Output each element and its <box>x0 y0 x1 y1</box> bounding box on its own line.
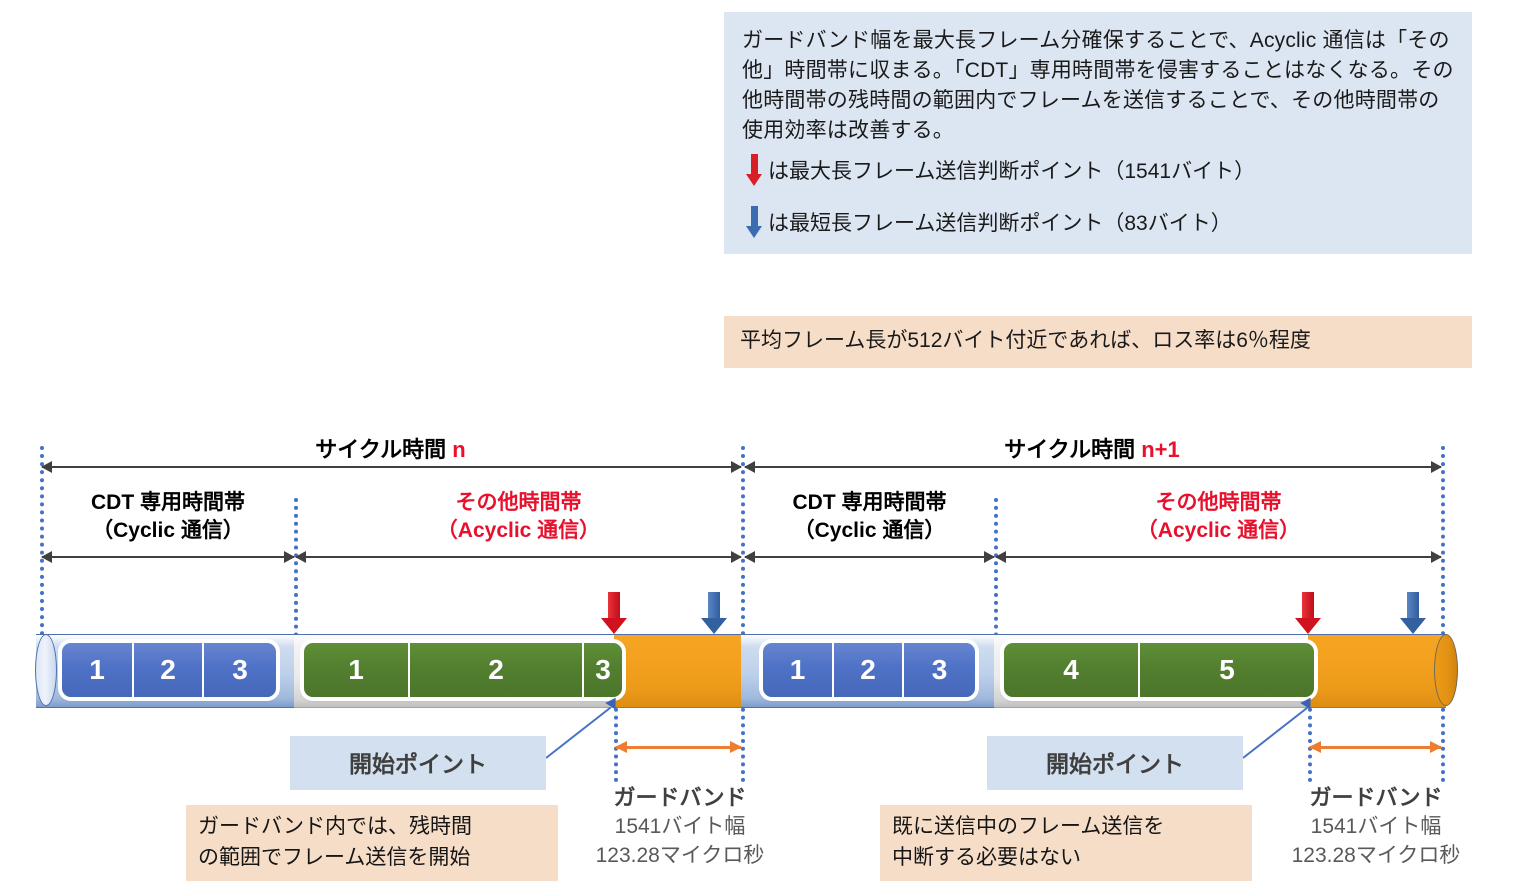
down-arrow-blue-icon <box>742 204 766 244</box>
cycle-title-n1: サイクル時間 n+1 <box>743 432 1441 464</box>
down-arrow-red-icon <box>742 152 766 192</box>
cycle-title-n: サイクル時間 n <box>40 432 741 464</box>
info-box-guardband: ガードバンド幅を最大長フレーム分確保することで、Acyclic 通信は「その他」… <box>724 12 1472 254</box>
pipe-right-cap <box>1434 634 1458 706</box>
band-label-other-n1: その他時間帯 （Acyclic 通信） <box>996 489 1441 545</box>
pipe-left-cap <box>35 634 57 706</box>
frame-block: 3 <box>584 643 622 697</box>
band-label-other-n1-line1: その他時間帯 <box>996 489 1441 517</box>
legend-row-min-frame: は最短長フレーム送信判断ポイント（83バイト） <box>742 204 1454 244</box>
measure-other-n1 <box>996 556 1441 558</box>
frame-block: 3 <box>904 643 975 697</box>
cycle-title-n1-accent: n+1 <box>1141 437 1180 462</box>
band-label-cdt-n-line1: CDT 専用時間帯 <box>42 489 294 517</box>
band-label-other-n-line1: その他時間帯 <box>296 489 741 517</box>
guardband-line2-left: 123.28マイクロ秒 <box>560 841 800 870</box>
measure-cycle-n1 <box>745 466 1441 468</box>
measure-cdt-n <box>42 556 294 558</box>
band-label-cdt-n1: CDT 専用時間帯 （Cyclic 通信） <box>745 489 994 545</box>
pipe-segment-guard-n <box>614 634 741 708</box>
frame-block: 1 <box>304 643 410 697</box>
leader-line-start-point-right <box>1242 707 1308 759</box>
measure-other-n <box>296 556 741 558</box>
legend-label-min-frame: は最短長フレーム送信判断ポイント（83バイト） <box>768 210 1232 238</box>
callout-note-left-line1: ガードバンド内では、残時間 <box>198 811 546 842</box>
band-label-cdt-n-line2: （Cyclic 通信） <box>42 517 294 545</box>
guardband-caption-right: ガードバンド 1541バイト幅 123.28マイクロ秒 <box>1256 784 1496 870</box>
callout-note-left-line2: の範囲でフレーム送信を開始 <box>198 842 546 873</box>
band-label-cdt-n: CDT 専用時間帯 （Cyclic 通信） <box>42 489 294 545</box>
pipe-segment-guard-n1 <box>1308 634 1446 708</box>
frame-group-acyclic-n1: 4 5 <box>1004 643 1314 697</box>
callout-start-point-left: 開始ポイント <box>290 736 546 790</box>
frame-block: 2 <box>834 643 904 697</box>
callout-start-point-right: 開始ポイント <box>987 736 1243 790</box>
cycle-title-n1-base: サイクル時間 <box>1004 437 1141 462</box>
band-label-other-n1-line2: （Acyclic 通信） <box>996 517 1441 545</box>
guardband-title-right: ガードバンド <box>1256 784 1496 812</box>
callout-note-right: 既に送信中のフレーム送信を 中断する必要はない <box>880 805 1252 881</box>
loss-box-text: 平均フレーム長が512バイト付近であれば、ロス率は6％程度 <box>740 326 1456 356</box>
guardband-line2-right: 123.28マイクロ秒 <box>1256 841 1496 870</box>
guardband-caption-left: ガードバンド 1541バイト幅 123.28マイクロ秒 <box>560 784 800 870</box>
frame-block: 2 <box>410 643 584 697</box>
decision-arrow-min-frame-n <box>701 592 727 636</box>
frame-group-cdt-n1: 1 2 3 <box>763 643 975 697</box>
guardband-measure-left <box>616 746 741 749</box>
measure-cdt-n1 <box>745 556 994 558</box>
frame-block: 5 <box>1140 643 1314 697</box>
frame-block: 1 <box>62 643 134 697</box>
frame-block: 3 <box>204 643 276 697</box>
info-box-loss-rate: 平均フレーム長が512バイト付近であれば、ロス率は6％程度 <box>724 316 1472 368</box>
frame-block: 1 <box>763 643 834 697</box>
decision-arrow-max-frame-n <box>601 592 627 636</box>
band-label-other-n-line2: （Acyclic 通信） <box>296 517 741 545</box>
frame-group-cdt-n: 1 2 3 <box>62 643 276 697</box>
callout-note-right-line1: 既に送信中のフレーム送信を <box>892 811 1240 842</box>
cycle-title-n-accent: n <box>452 437 465 462</box>
frame-group-acyclic-n: 1 2 3 <box>304 643 622 697</box>
band-label-other-n: その他時間帯 （Acyclic 通信） <box>296 489 741 545</box>
timeline-pipe: 1 2 3 1 2 3 1 2 3 4 5 <box>36 634 1446 706</box>
info-box-paragraph: ガードバンド幅を最大長フレーム分確保することで、Acyclic 通信は「その他」… <box>742 26 1454 146</box>
decision-arrow-min-frame-n1 <box>1400 592 1426 636</box>
callout-note-left: ガードバンド内では、残時間 の範囲でフレーム送信を開始 <box>186 805 558 881</box>
decision-arrow-max-frame-n1 <box>1295 592 1321 636</box>
guardband-title-left: ガードバンド <box>560 784 800 812</box>
measure-cycle-n <box>42 466 741 468</box>
frame-block: 4 <box>1004 643 1140 697</box>
band-label-cdt-n1-line2: （Cyclic 通信） <box>745 517 994 545</box>
guardband-line1-right: 1541バイト幅 <box>1256 812 1496 841</box>
guardband-line1-left: 1541バイト幅 <box>560 812 800 841</box>
legend-row-max-frame: は最大長フレーム送信判断ポイント（1541バイト） <box>742 152 1454 192</box>
frame-block: 2 <box>134 643 204 697</box>
guardband-measure-right <box>1310 746 1441 749</box>
cycle-title-n-base: サイクル時間 <box>315 437 452 462</box>
band-label-cdt-n1-line1: CDT 専用時間帯 <box>745 489 994 517</box>
leader-line-start-point-left <box>545 707 611 759</box>
legend-label-max-frame: は最大長フレーム送信判断ポイント（1541バイト） <box>768 158 1255 186</box>
callout-note-right-line2: 中断する必要はない <box>892 842 1240 873</box>
